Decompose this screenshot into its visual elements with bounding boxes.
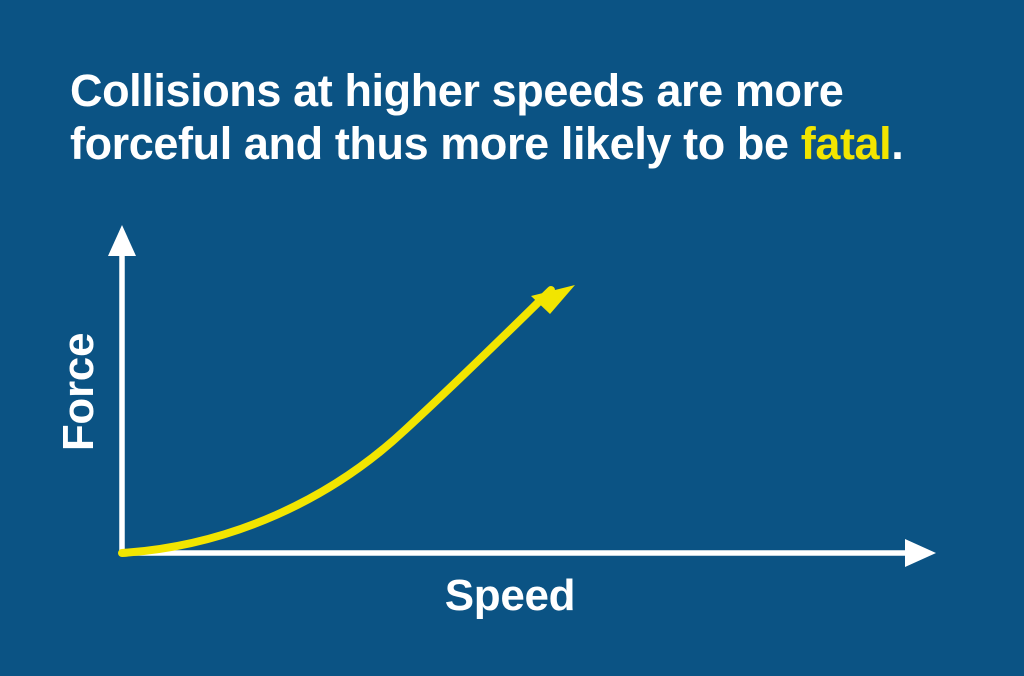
force-speed-curve bbox=[122, 290, 551, 553]
x-axis-label: Speed bbox=[330, 570, 690, 622]
y-axis-label: Force bbox=[53, 307, 105, 477]
y-axis-arrow-icon bbox=[108, 225, 136, 256]
x-axis-arrow-icon bbox=[905, 539, 936, 567]
slide-canvas: Collisions at higher speeds are more for… bbox=[0, 0, 1024, 676]
